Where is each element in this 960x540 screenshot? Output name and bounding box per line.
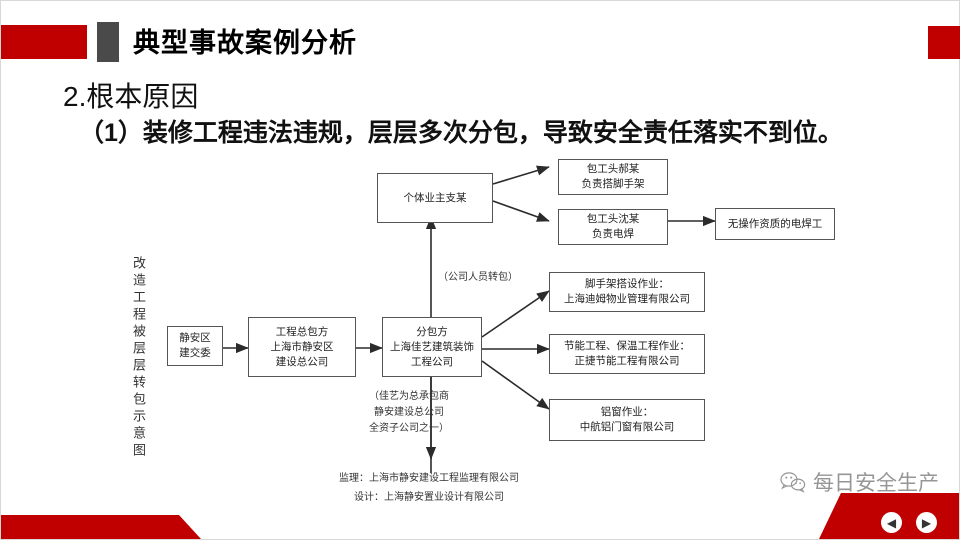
wechat-icon: [780, 471, 806, 493]
header-red-accent-left: [1, 25, 87, 59]
next-slide-button[interactable]: ▶: [916, 512, 937, 533]
node-scaffold-work[interactable]: 脚手架搭设作业： 上海迪姆物业管理有限公司: [549, 272, 705, 312]
node-foreman-hao[interactable]: 包工头郝某 负责搭脚手架: [558, 159, 668, 195]
node-owner[interactable]: 个体业主支某: [377, 173, 493, 223]
node-general-contractor[interactable]: 工程总包方 上海市静安区 建设总公司: [248, 317, 356, 377]
prev-slide-button[interactable]: ◀: [881, 512, 902, 533]
header-gray-accent: [97, 22, 119, 62]
node-subcontractor[interactable]: 分包方 上海佳艺建筑装饰 工程公司: [382, 317, 482, 377]
node-welder[interactable]: 无操作资质的电焊工: [715, 208, 835, 240]
node-energy-work[interactable]: 节能工程、保温工程作业： 正捷节能工程有限公司: [549, 334, 705, 374]
watermark-text: 每日安全生产: [813, 467, 939, 497]
header-red-accent-right: [928, 26, 960, 59]
watermark: 每日安全生产: [780, 467, 939, 497]
node-foreman-shen[interactable]: 包工头沈某 负责电焊: [558, 209, 668, 245]
section-heading: 2.根本原因: [63, 75, 198, 115]
page-title: 典型事故案例分析: [133, 22, 357, 64]
node-window-work[interactable]: 铝窗作业： 中航铝门窗有限公司: [549, 399, 705, 441]
annotation-transfer-note: （公司人员转包）: [438, 270, 518, 286]
section-subheading: （1）装修工程违法违规，层层多次分包，导致安全责任落实不到位。: [79, 113, 843, 149]
annotation-design: 设计：上海静安置业设计有限公司: [304, 490, 554, 506]
annotation-subsidiary-note: （佳艺为总承包商 静安建设总公司 全资子公司之一）: [334, 389, 484, 437]
slide-root: 典型事故案例分析 2.根本原因 （1）装修工程违法违规，层层多次分包，导致安全责…: [0, 0, 960, 540]
node-jianjiaowei[interactable]: 静安区 建交委: [167, 326, 223, 366]
slide-nav: ◀ ▶: [881, 512, 937, 533]
annotation-supervision: 监理：上海市静安建设工程监理有限公司: [304, 471, 554, 487]
